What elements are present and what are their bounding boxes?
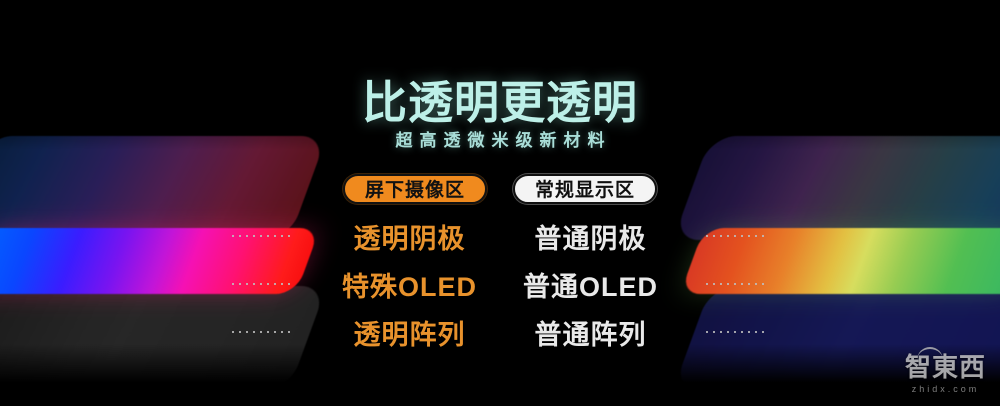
cell-special-array: 透明阵列 [332, 313, 487, 352]
slide-root: 比透明更透明 超高透微米级新材料 屏下摄像区 常规显示区 透明阴极 普通阴极 特… [0, 0, 1000, 406]
badge-regular-display[interactable]: 常规显示区 [513, 174, 657, 204]
cell-normal-array: 普通阵列 [513, 313, 668, 352]
page-title: 比透明更透明 [0, 66, 1000, 131]
leader-dots-right [706, 283, 768, 285]
table-row: 特殊OLED 普通OLED [0, 260, 1000, 308]
table-row: 透明阵列 普通阵列 [0, 308, 1000, 356]
leader-dots-left [232, 283, 294, 285]
cell-special-oled: 特殊OLED [332, 265, 487, 304]
table-row: 透明阴极 普通阴极 [0, 212, 1000, 260]
cell-normal-cathode: 普通阴极 [513, 217, 668, 256]
watermark-url: zhidx.com [905, 384, 986, 394]
watermark: 智東西 zhidx.com [905, 354, 986, 394]
cell-normal-oled: 普通OLED [513, 265, 668, 304]
leader-dots-right [706, 331, 768, 333]
leader-dots-right [706, 235, 768, 237]
leader-dots-left [232, 235, 294, 237]
page-subtitle: 超高透微米级新材料 [0, 126, 1000, 151]
badge-row: 屏下摄像区 常规显示区 [0, 174, 1000, 204]
comparison-table: 透明阴极 普通阴极 特殊OLED 普通OLED 透明阵列 普通阵列 [0, 212, 1000, 356]
leader-dots-left [232, 331, 294, 333]
cell-special-cathode: 透明阴极 [332, 217, 487, 256]
badge-under-display-camera[interactable]: 屏下摄像区 [343, 174, 487, 204]
